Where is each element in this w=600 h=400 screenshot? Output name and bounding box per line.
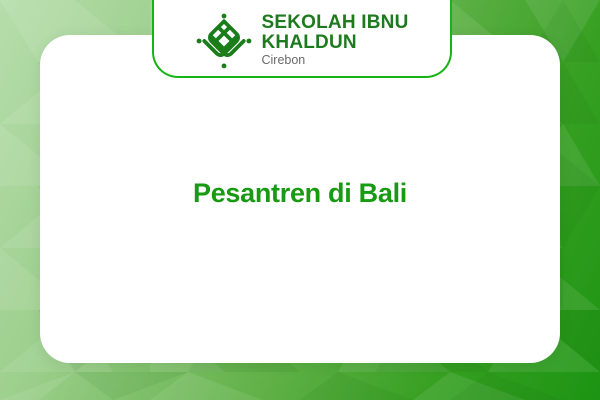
logo-tab: SEKOLAH IBNU KHALDUN Cirebon [152,0,452,78]
ibnu-khaldun-interlace-mark-icon [195,12,253,70]
logo-line-2: KHALDUN [261,33,408,53]
logo-lockup: SEKOLAH IBNU KHALDUN Cirebon [195,12,408,70]
logo-wordmark: SEKOLAH IBNU KHALDUN Cirebon [261,13,408,69]
slide-canvas: SEKOLAH IBNU KHALDUN Cirebon Pesantren d… [0,0,600,400]
logo-subtitle: Cirebon [261,53,408,69]
page-title: Pesantren di Bali [0,178,600,209]
logo-line-1: SEKOLAH IBNU [261,13,408,33]
